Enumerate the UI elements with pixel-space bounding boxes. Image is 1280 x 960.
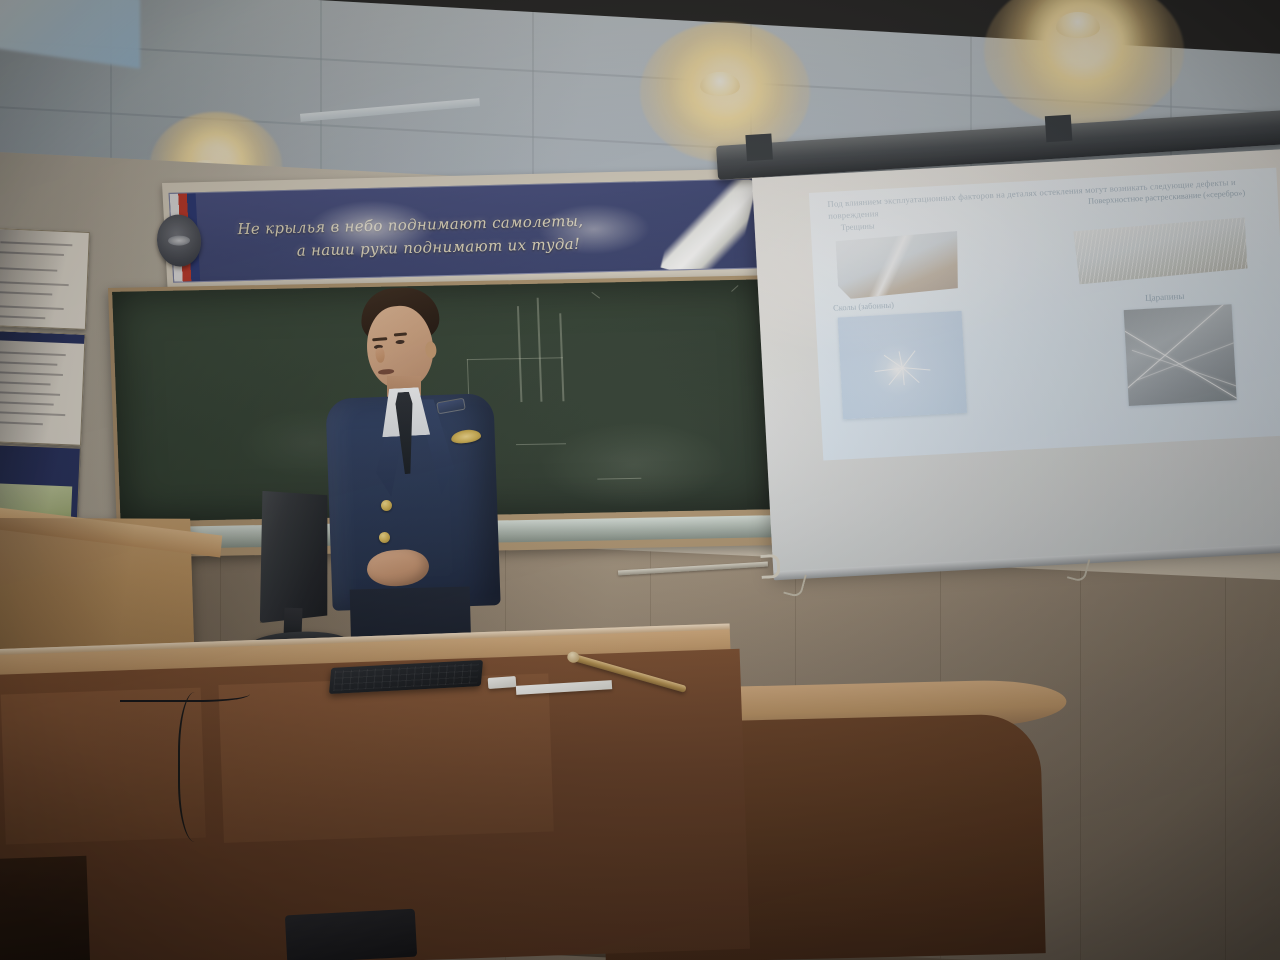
jacket-button-lower bbox=[379, 532, 390, 543]
classroom-photo: Не крылья в небо поднимают самолеты, а н… bbox=[0, 0, 1280, 960]
wall-banner: Не крылья в небо поднимают самолеты, а н… bbox=[162, 168, 768, 295]
monitor-panel-back bbox=[255, 489, 332, 623]
jacket-button-upper bbox=[381, 500, 392, 511]
eye-right bbox=[395, 340, 404, 345]
slide-image-chips bbox=[838, 311, 967, 420]
slide-label-scratches: Царапины bbox=[1145, 291, 1185, 303]
slide-image-scratches bbox=[1124, 304, 1237, 406]
dome-light-right-cap bbox=[1056, 12, 1100, 38]
poster-top bbox=[0, 228, 90, 330]
slide-image-crazing bbox=[1073, 217, 1248, 284]
impact-star-graphic bbox=[871, 344, 933, 391]
projector-screen: Под влиянием эксплуатационных факторов н… bbox=[752, 149, 1280, 573]
slide-label-chips: Сколы (забоины) bbox=[833, 301, 894, 313]
remote-control[interactable] bbox=[488, 676, 517, 689]
left-wall-posters bbox=[0, 228, 90, 524]
dome-light-center-cap bbox=[700, 72, 740, 96]
slide-surface: Под влиянием эксплуатационных факторов н… bbox=[809, 168, 1280, 461]
desk-cable bbox=[120, 682, 250, 702]
feather-quill-icon bbox=[661, 178, 758, 282]
poster-middle bbox=[0, 330, 86, 446]
equipment-box bbox=[285, 909, 417, 960]
slide-label-cracks: Трещины bbox=[841, 221, 875, 232]
slide-image-cracks bbox=[835, 231, 960, 300]
nose bbox=[375, 347, 385, 363]
monitor[interactable] bbox=[241, 488, 339, 651]
power-cable bbox=[178, 692, 220, 842]
mouth bbox=[378, 369, 394, 375]
ear bbox=[425, 341, 437, 359]
eyebrow-right bbox=[394, 332, 407, 336]
eyebrow-left bbox=[372, 337, 387, 341]
